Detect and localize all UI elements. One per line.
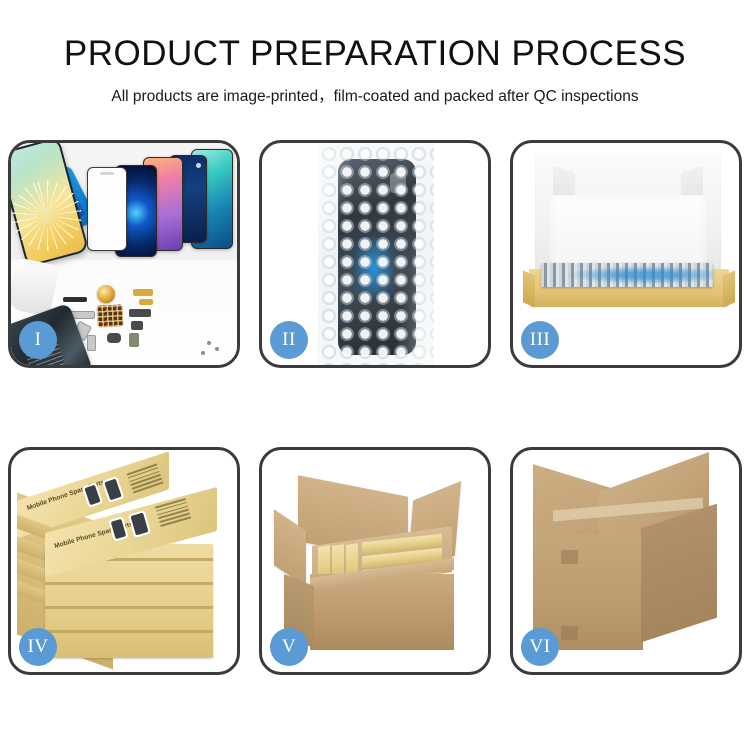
camera-module-part: [131, 321, 143, 330]
process-steps-grid: I II III: [8, 140, 742, 675]
speaker-part: [107, 333, 121, 343]
white-bezel-front-glass: [87, 167, 127, 251]
front-stack-seam-2: [45, 582, 213, 585]
step-badge-6: VI: [521, 628, 559, 666]
vibration-motor-part: [97, 285, 115, 303]
step-panel-1: I: [8, 140, 240, 368]
step-panel-6: VI: [510, 447, 742, 675]
step-badge-1: I: [19, 321, 57, 359]
carton-hand-hole-upper: [561, 550, 578, 564]
screw-part-c: [201, 351, 205, 355]
step-panel-4: Mobile Phone Spare Parts: [8, 447, 240, 675]
flex-cable-part-b: [139, 299, 153, 305]
plastic-gloss-highlight: [318, 143, 434, 365]
wrapped-screens-in-box: [541, 263, 713, 287]
front-stack-seam-4: [45, 630, 213, 633]
flex-cable-part-a: [133, 289, 153, 296]
page-subtitle: All products are image-printed，film-coat…: [0, 84, 750, 106]
step-badge-2: II: [270, 321, 308, 359]
step-badge-5: V: [270, 628, 308, 666]
product-preparation-infographic: PRODUCT PREPARATION PROCESS All products…: [0, 0, 750, 750]
header: PRODUCT PREPARATION PROCESS All products…: [0, 0, 750, 106]
carton-hand-hole-lower: [561, 626, 578, 640]
foam-insert: [549, 195, 707, 269]
step-panel-5: V: [259, 447, 491, 675]
step-panel-2: II: [259, 140, 491, 368]
front-stack-seam-3: [45, 606, 213, 609]
ic-chip-part: [129, 309, 151, 317]
carton-right-face: [641, 504, 717, 643]
copper-mesh-part: [96, 304, 123, 327]
screw-part-b: [215, 347, 219, 351]
step-badge-3: III: [521, 321, 559, 359]
page-title: PRODUCT PREPARATION PROCESS: [0, 36, 750, 73]
step-panel-3: III: [510, 140, 742, 368]
speaker-mesh-part: [63, 297, 87, 302]
sim-tray-part: [87, 335, 96, 351]
step-badge-4: IV: [19, 628, 57, 666]
screw-part-a: [207, 341, 211, 345]
battery-part: [129, 333, 139, 347]
